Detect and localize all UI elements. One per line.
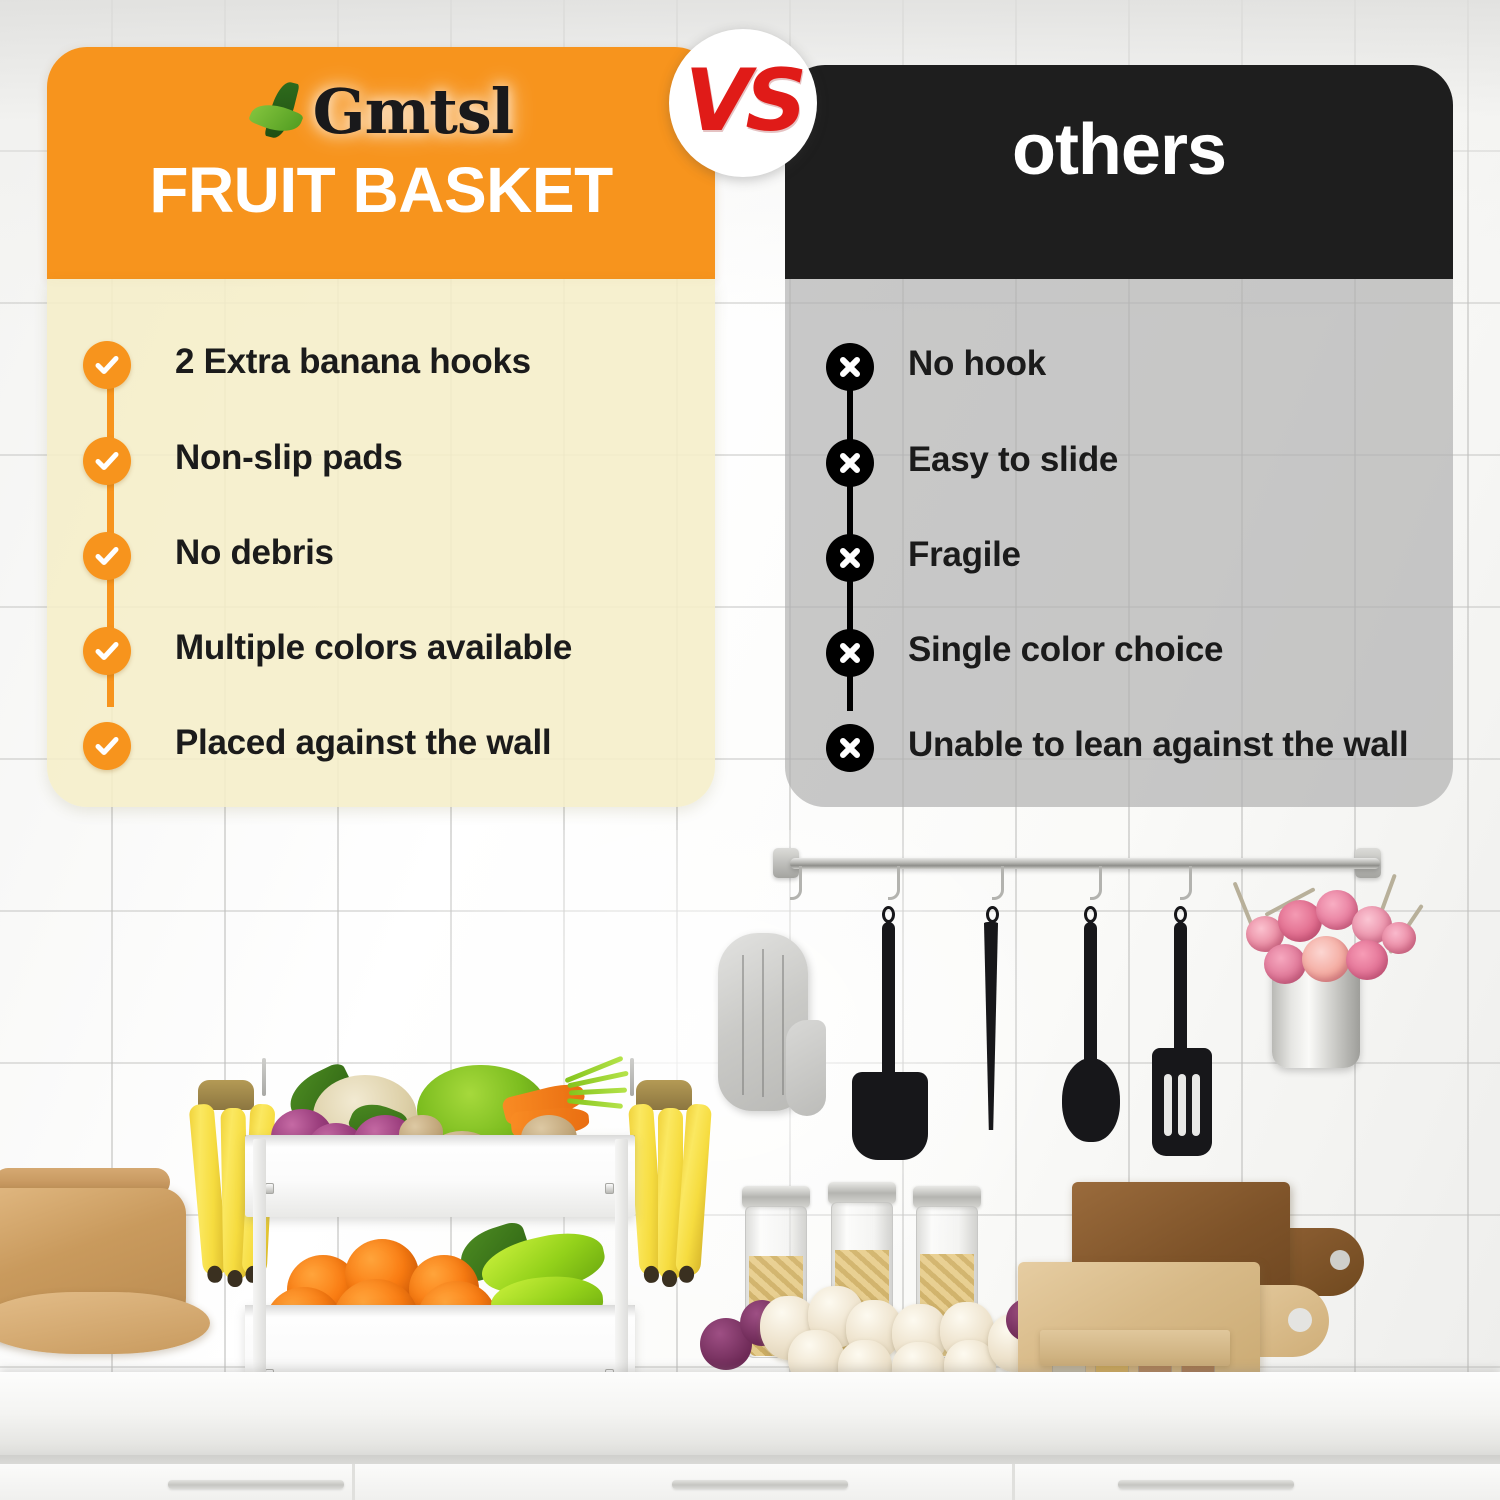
feature-label: No debris — [175, 532, 645, 573]
brand-panel-body: 2 Extra banana hooks Non-slip pads — [47, 279, 715, 807]
feature-row: No debris — [83, 532, 645, 580]
feature-label: Single color choice — [908, 629, 1438, 670]
check-icon — [83, 437, 131, 485]
others-comparison-panel: others No hook — [785, 65, 1453, 807]
feature-row: Placed against the wall — [83, 722, 645, 770]
feature-row: Multiple colors available — [83, 627, 645, 675]
check-icon — [83, 341, 131, 389]
feature-label: Non-slip pads — [175, 437, 645, 478]
vs-badge: VS — [669, 29, 817, 177]
others-feature-list: No hook Easy to slide — [785, 279, 1453, 807]
feature-row: Single color choice — [826, 629, 1438, 677]
feature-row: No hook — [826, 343, 1438, 391]
feature-label: Placed against the wall — [175, 722, 645, 763]
check-icon — [83, 532, 131, 580]
brand-name: Gmtsl — [313, 75, 514, 148]
feature-label: No hook — [908, 343, 1438, 384]
leaf-icon — [249, 79, 315, 143]
cross-icon — [826, 343, 874, 391]
cross-icon — [826, 534, 874, 582]
cross-icon — [826, 439, 874, 487]
others-panel-title: others — [785, 109, 1453, 191]
feature-label: 2 Extra banana hooks — [175, 341, 645, 382]
check-icon — [83, 627, 131, 675]
feature-row: Unable to lean against the wall — [826, 724, 1438, 772]
brand-feature-list: 2 Extra banana hooks Non-slip pads — [47, 279, 715, 807]
feature-label: Fragile — [908, 534, 1438, 575]
brand-comparison-panel: Gmtsl FRUIT BASKET 2 Extra banana hooks — [47, 47, 715, 807]
others-panel-header: others — [785, 65, 1453, 279]
feature-row: 2 Extra banana hooks — [83, 341, 645, 389]
brand-panel-header: Gmtsl FRUIT BASKET — [47, 47, 715, 279]
feature-row: Non-slip pads — [83, 437, 645, 485]
cross-icon — [826, 724, 874, 772]
comparison-overlay: Gmtsl FRUIT BASKET 2 Extra banana hooks — [0, 0, 1500, 1500]
others-panel-body: No hook Easy to slide — [785, 279, 1453, 807]
feature-row: Fragile — [826, 534, 1438, 582]
vs-label: VS — [685, 58, 802, 144]
check-icon — [83, 722, 131, 770]
feature-label: Easy to slide — [908, 439, 1438, 480]
cross-icon — [826, 629, 874, 677]
brand-panel-title: FRUIT BASKET — [47, 153, 715, 227]
feature-label: Unable to lean against the wall — [908, 724, 1438, 765]
brand-logo: Gmtsl — [47, 71, 715, 151]
feature-row: Easy to slide — [826, 439, 1438, 487]
feature-label: Multiple colors available — [175, 627, 645, 668]
